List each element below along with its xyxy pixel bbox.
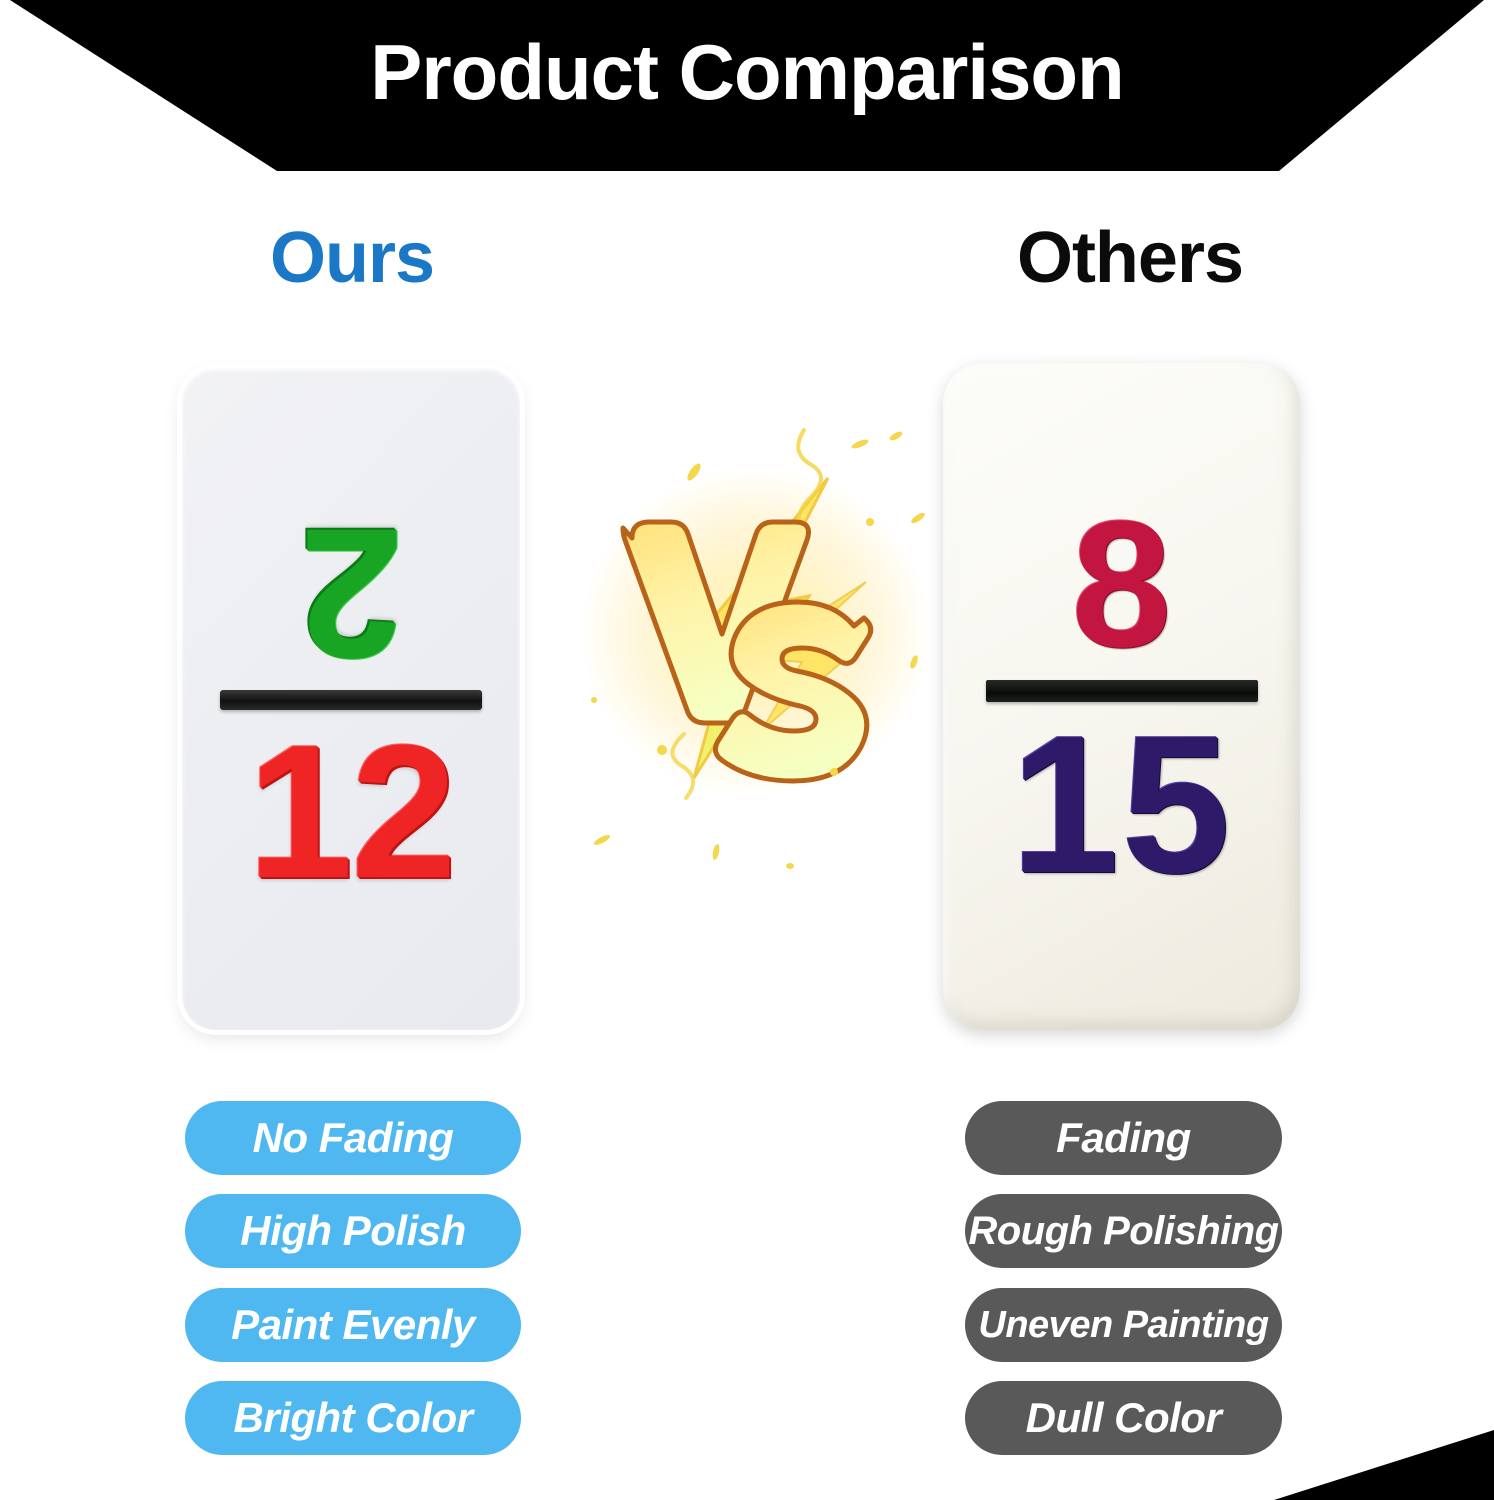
feature-pill-others-0[interactable]: Fading	[965, 1101, 1282, 1175]
product-tile-others: 8 15	[943, 363, 1300, 1030]
feature-pill-others-2[interactable]: Uneven Painting	[965, 1288, 1282, 1362]
feature-pill-ours-1[interactable]: High Polish	[185, 1194, 521, 1268]
column-heading-ours: Ours	[182, 222, 522, 294]
tile-ours-bottom-number: 12	[247, 722, 454, 903]
feature-pill-ours-0[interactable]: No Fading	[185, 1101, 521, 1175]
page-title: Product Comparison	[0, 33, 1494, 111]
product-tile-ours: 2 12	[182, 368, 520, 1030]
feature-pill-ours-2[interactable]: Paint Evenly	[185, 1288, 521, 1362]
feature-pill-ours-3[interactable]: Bright Color	[185, 1381, 521, 1455]
tile-others-bottom-number: 15	[1010, 712, 1232, 898]
column-heading-others: Others	[960, 222, 1300, 294]
corner-accent-bottom-right	[1274, 1430, 1494, 1500]
versus-badge	[566, 400, 936, 880]
feature-pill-others-1[interactable]: Rough Polishing	[965, 1194, 1282, 1268]
tile-ours-top-number: 2	[300, 504, 403, 680]
tile-others-top-number: 8	[1071, 499, 1171, 670]
feature-pill-others-3[interactable]: Dull Color	[965, 1381, 1282, 1455]
